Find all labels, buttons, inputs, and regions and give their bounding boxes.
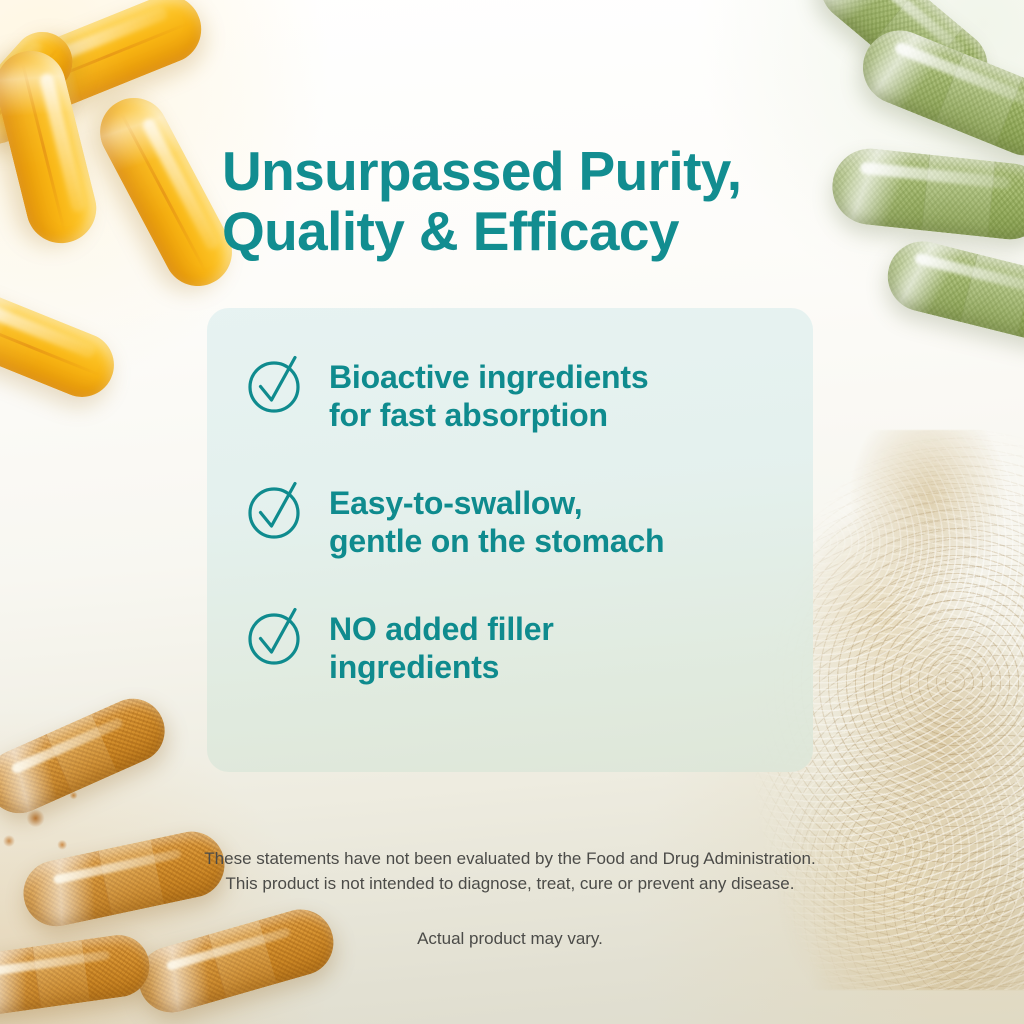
benefit-3-line-2: ingredients [329,649,499,685]
check-circle-icon [245,480,307,542]
turmeric-capsule [17,826,230,933]
benefit-2-line-2: gentle on the stomach [329,523,664,559]
list-item-label: NO added filler ingredients [329,604,554,686]
disclaimer: These statements have not been evaluated… [200,846,820,951]
check-circle-icon [245,606,307,668]
promo-graphic: Unsurpassed Purity, Quality & Efficacy B… [0,0,1024,1024]
turmeric-capsule [0,689,175,824]
turmeric-capsule [0,931,153,1019]
green-capsule [880,234,1024,348]
benefit-2-line-1: Easy-to-swallow, [329,485,582,521]
headline-line-2: Quality & Efficacy [222,201,862,262]
list-item-label: Bioactive ingredients for fast absorptio… [329,352,648,434]
benefits-panel: Bioactive ingredients for fast absorptio… [207,308,813,772]
page-title: Unsurpassed Purity, Quality & Efficacy [222,141,862,262]
product-variance-text: Actual product may vary. [200,926,820,951]
fda-disclaimer-text: These statements have not been evaluated… [204,849,815,893]
list-item: Easy-to-swallow, gentle on the stomach [245,478,787,560]
benefit-1-line-2: for fast absorption [329,397,608,433]
benefit-3-line-1: NO added filler [329,611,554,647]
list-item: Bioactive ingredients for fast absorptio… [245,352,787,434]
benefits-list: Bioactive ingredients for fast absorptio… [245,352,787,686]
softgel-capsule [88,86,244,298]
headline-line-1: Unsurpassed Purity, [222,140,741,202]
softgel-capsule [0,281,124,406]
check-circle-icon [245,354,307,416]
benefit-1-line-1: Bioactive ingredients [329,359,648,395]
list-item: NO added filler ingredients [245,604,787,686]
list-item-label: Easy-to-swallow, gentle on the stomach [329,478,664,560]
